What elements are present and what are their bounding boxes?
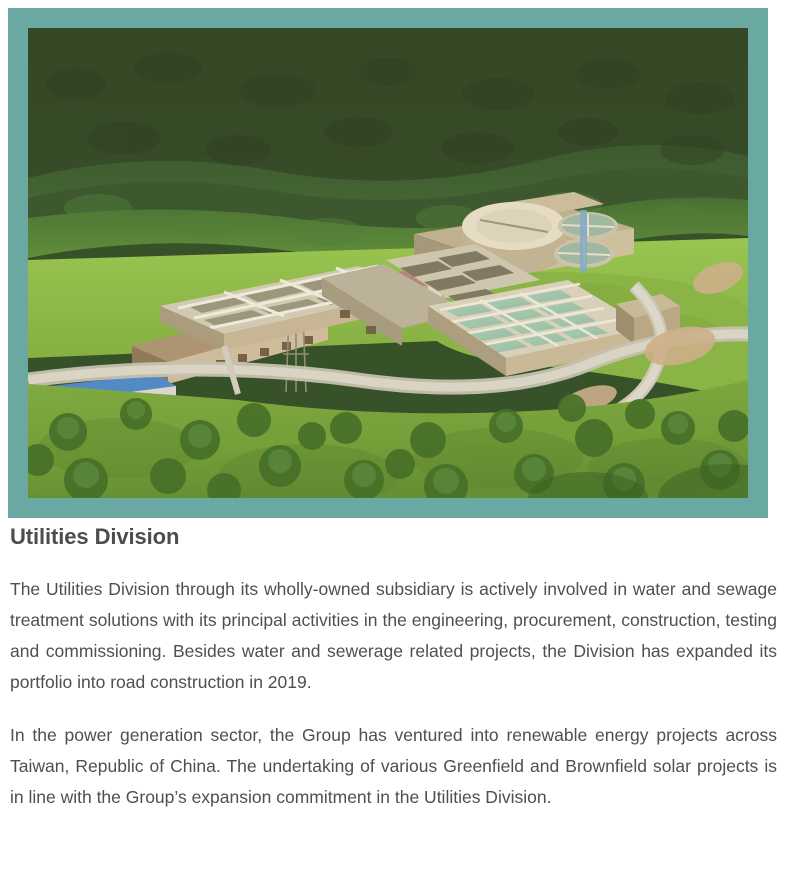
photo-frame <box>8 8 768 518</box>
paragraph-power-generation: In the power generation sector, the Grou… <box>10 720 777 813</box>
aerial-photo-illustration <box>28 28 748 498</box>
utilities-division-page: Utilities Division The Utilities Divisio… <box>0 0 789 874</box>
page-title: Utilities Division <box>10 524 777 550</box>
paragraph-utilities-overview: The Utilities Division through its wholl… <box>10 574 777 698</box>
text-content: Utilities Division The Utilities Divisio… <box>10 524 777 813</box>
aerial-photo <box>28 28 748 498</box>
